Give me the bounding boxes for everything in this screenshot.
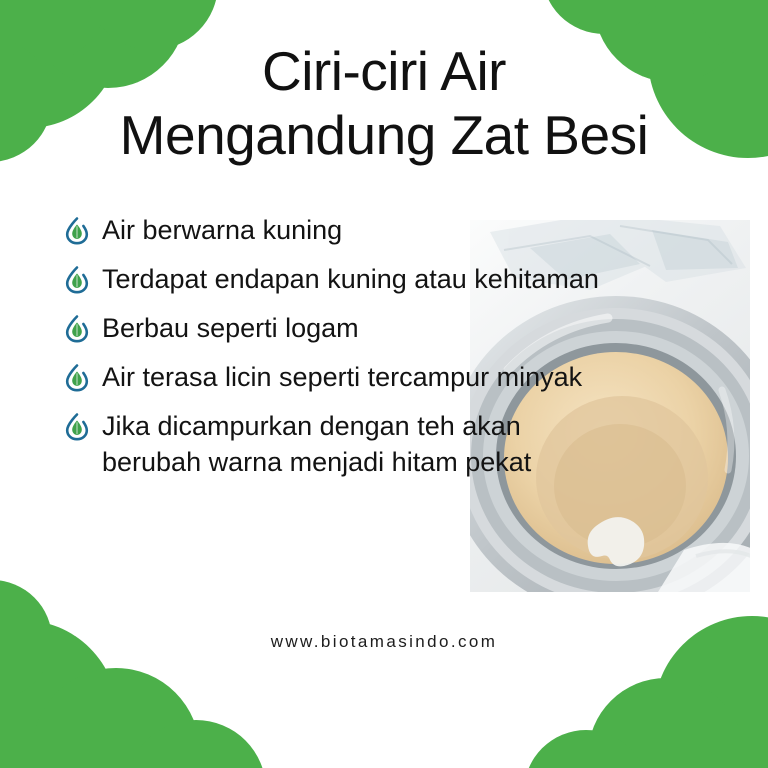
page-title: Ciri-ciri Air Mengandung Zat Besi (40, 40, 728, 168)
characteristics-list: Air berwarna kuning Terdapat endapan kun… (62, 212, 742, 480)
list-item-label: Terdapat endapan kuning atau kehitaman (102, 261, 599, 297)
water-drop-leaf-icon (62, 261, 92, 297)
list-item: Air berwarna kuning (62, 212, 742, 248)
list-item: Jika dicampurkan dengan teh akan berubah… (62, 408, 742, 480)
infographic-poster: Ciri-ciri Air Mengandung Zat Besi Air be… (0, 0, 768, 768)
website-footer: www.biotamasindo.com (0, 632, 768, 652)
water-drop-leaf-icon (62, 310, 92, 346)
list-item-label: Jika dicampurkan dengan teh akan berubah… (102, 408, 531, 480)
list-item-label: Berbau seperti logam (102, 310, 359, 346)
water-drop-leaf-icon (62, 359, 92, 395)
list-item: Berbau seperti logam (62, 310, 742, 346)
water-drop-leaf-icon (62, 212, 92, 248)
list-item-label: Air terasa licin seperti tercampur minya… (102, 359, 582, 395)
list-item-label: Air berwarna kuning (102, 212, 342, 248)
water-drop-leaf-icon (62, 408, 92, 444)
blob-bottom-left (0, 580, 266, 768)
list-item: Terdapat endapan kuning atau kehitaman (62, 261, 742, 297)
list-item: Air terasa licin seperti tercampur minya… (62, 359, 742, 395)
